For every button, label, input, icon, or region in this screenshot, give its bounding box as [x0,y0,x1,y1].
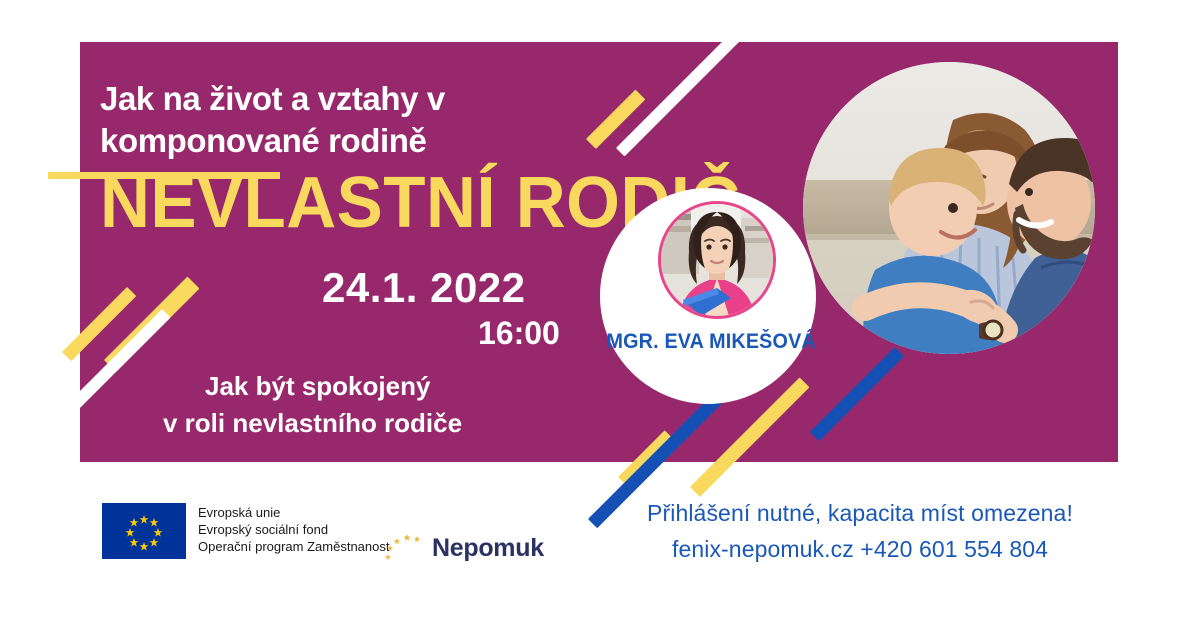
eu-flag-icon [102,503,186,559]
family-photo-illustration [803,62,1095,354]
speaker-avatar [658,201,776,319]
registration-notice: Přihlášení nutné, kapacita míst omezena! [600,500,1120,527]
eu-line-2: Evropský sociální fond [198,521,389,538]
nepomuk-stars-icon [382,528,430,568]
tagline-block: Jak být spokojený v roli nevlastního rod… [163,368,462,442]
speaker-name: MGR. EVA MIKEŠOVÁ [606,330,809,354]
eu-logo: Evropská unie Evropský sociální fond Ope… [102,503,389,559]
speaker-card: MGR. EVA MIKEŠOVÁ [600,188,816,404]
event-poster: Jak na život a vztahy v komponované rodi… [0,0,1200,628]
eu-line-3: Operační program Zaměstnanost [198,538,389,555]
headline-line-2: komponované rodině [100,120,768,162]
contact-details[interactable]: fenix-nepomuk.cz +420 601 554 804 [600,536,1120,563]
event-date: 24.1. 2022 [322,264,526,312]
headline-line-1: Jak na život a vztahy v [100,78,768,120]
tagline-line-1: Jak být spokojený [205,368,462,405]
eu-line-1: Evropská unie [198,504,389,521]
event-time: 16:00 [478,315,560,352]
nepomuk-logo: Nepomuk [382,528,544,568]
contact-block: Přihlášení nutné, kapacita míst omezena!… [600,500,1120,563]
speaker-portrait-illustration [661,204,773,316]
eu-logo-text: Evropská unie Evropský sociální fond Ope… [198,504,389,555]
speaker-name-underline [48,172,280,179]
nepomuk-wordmark: Nepomuk [432,534,544,563]
eu-stars-icon [102,503,186,559]
tagline-line-2: v roli nevlastního rodiče [163,405,462,442]
family-photo [803,62,1095,354]
